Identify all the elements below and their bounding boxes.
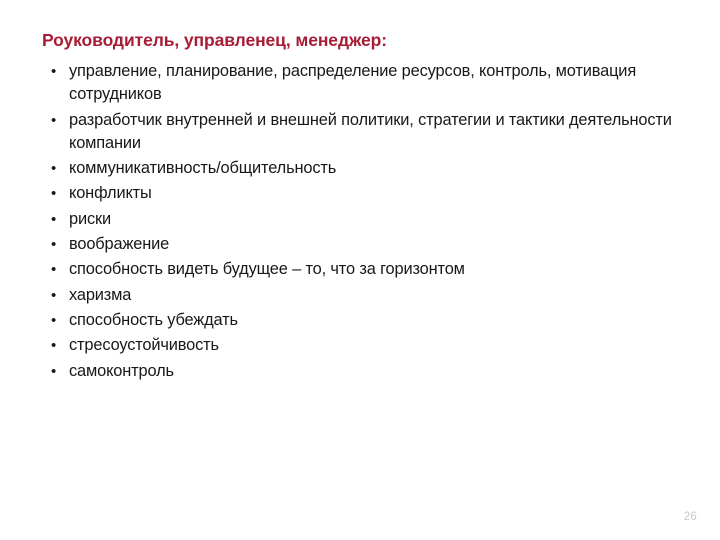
list-item: • разработчик внутренней и внешней полит… (46, 109, 709, 156)
bullet-icon: • (51, 157, 63, 180)
slide-canvas: Роуководитель, управленец, менеджер: • у… (0, 0, 720, 540)
list-item: • способность видеть будущее – то, что з… (46, 258, 696, 281)
list-item: • стресоустойчивость (46, 334, 696, 357)
bullet-list: • управление, планирование, распределени… (46, 60, 696, 385)
list-item-label: харизма (69, 284, 696, 307)
bullet-icon: • (51, 60, 63, 83)
bullet-icon: • (51, 284, 63, 307)
bullet-icon: • (51, 208, 63, 231)
page-title: Роуководитель, управленец, менеджер: (42, 30, 682, 51)
list-item-label: риски (69, 208, 696, 231)
bullet-icon: • (51, 258, 63, 281)
bullet-icon: • (51, 309, 63, 332)
list-item-label: способность убеждать (69, 309, 696, 332)
list-item: • риски (46, 208, 696, 231)
list-item: • самоконтроль (46, 360, 696, 383)
list-item-label: конфликты (69, 182, 696, 205)
list-item: • управление, планирование, распределени… (46, 60, 669, 107)
list-item: • способность убеждать (46, 309, 696, 332)
bullet-icon: • (51, 360, 63, 383)
list-item-label: воображение (69, 233, 696, 256)
list-item-label: самоконтроль (69, 360, 696, 383)
list-item: • воображение (46, 233, 696, 256)
bullet-icon: • (51, 233, 63, 256)
list-item-label: коммуникативность/общительность (69, 157, 696, 180)
list-item-label: управление, планирование, распределение … (69, 60, 669, 107)
bullet-icon: • (51, 334, 63, 357)
list-item: • харизма (46, 284, 696, 307)
page-number: 26 (684, 511, 697, 523)
list-item-label: стресоустойчивость (69, 334, 696, 357)
list-item: • коммуникативность/общительность (46, 157, 696, 180)
bullet-icon: • (51, 182, 63, 205)
list-item-label: способность видеть будущее – то, что за … (69, 258, 696, 281)
list-item: • конфликты (46, 182, 696, 205)
list-item-label: разработчик внутренней и внешней политик… (69, 109, 709, 156)
bullet-icon: • (51, 109, 63, 132)
